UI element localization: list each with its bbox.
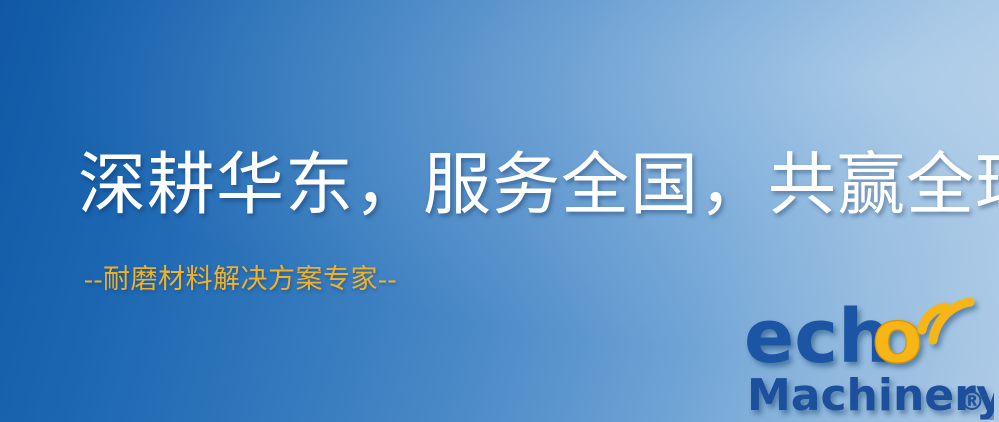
logo-wordmark-o: o [872, 296, 923, 380]
logo-trademark-symbol: ® [959, 387, 985, 417]
banner-headline: 深耕华东，服务全国，共赢全球 [78, 150, 999, 221]
logo-ech-text: ech [744, 296, 891, 380]
banner-subtitle: --耐磨材料解决方案专家-- [84, 263, 397, 295]
echo-machinery-logo: ech o Machinery ® [744, 296, 994, 420]
logo-tagline-machinery: Machinery ® [747, 370, 994, 420]
signal-wave-icon [922, 302, 970, 340]
logo-machinery-text: Machinery [747, 370, 994, 420]
hero-banner: 深耕华东，服务全国，共赢全球 --耐磨材料解决方案专家-- ech o [0, 0, 999, 422]
logo-o-text: o [872, 296, 923, 380]
logo-wordmark-ech: ech [744, 296, 891, 380]
